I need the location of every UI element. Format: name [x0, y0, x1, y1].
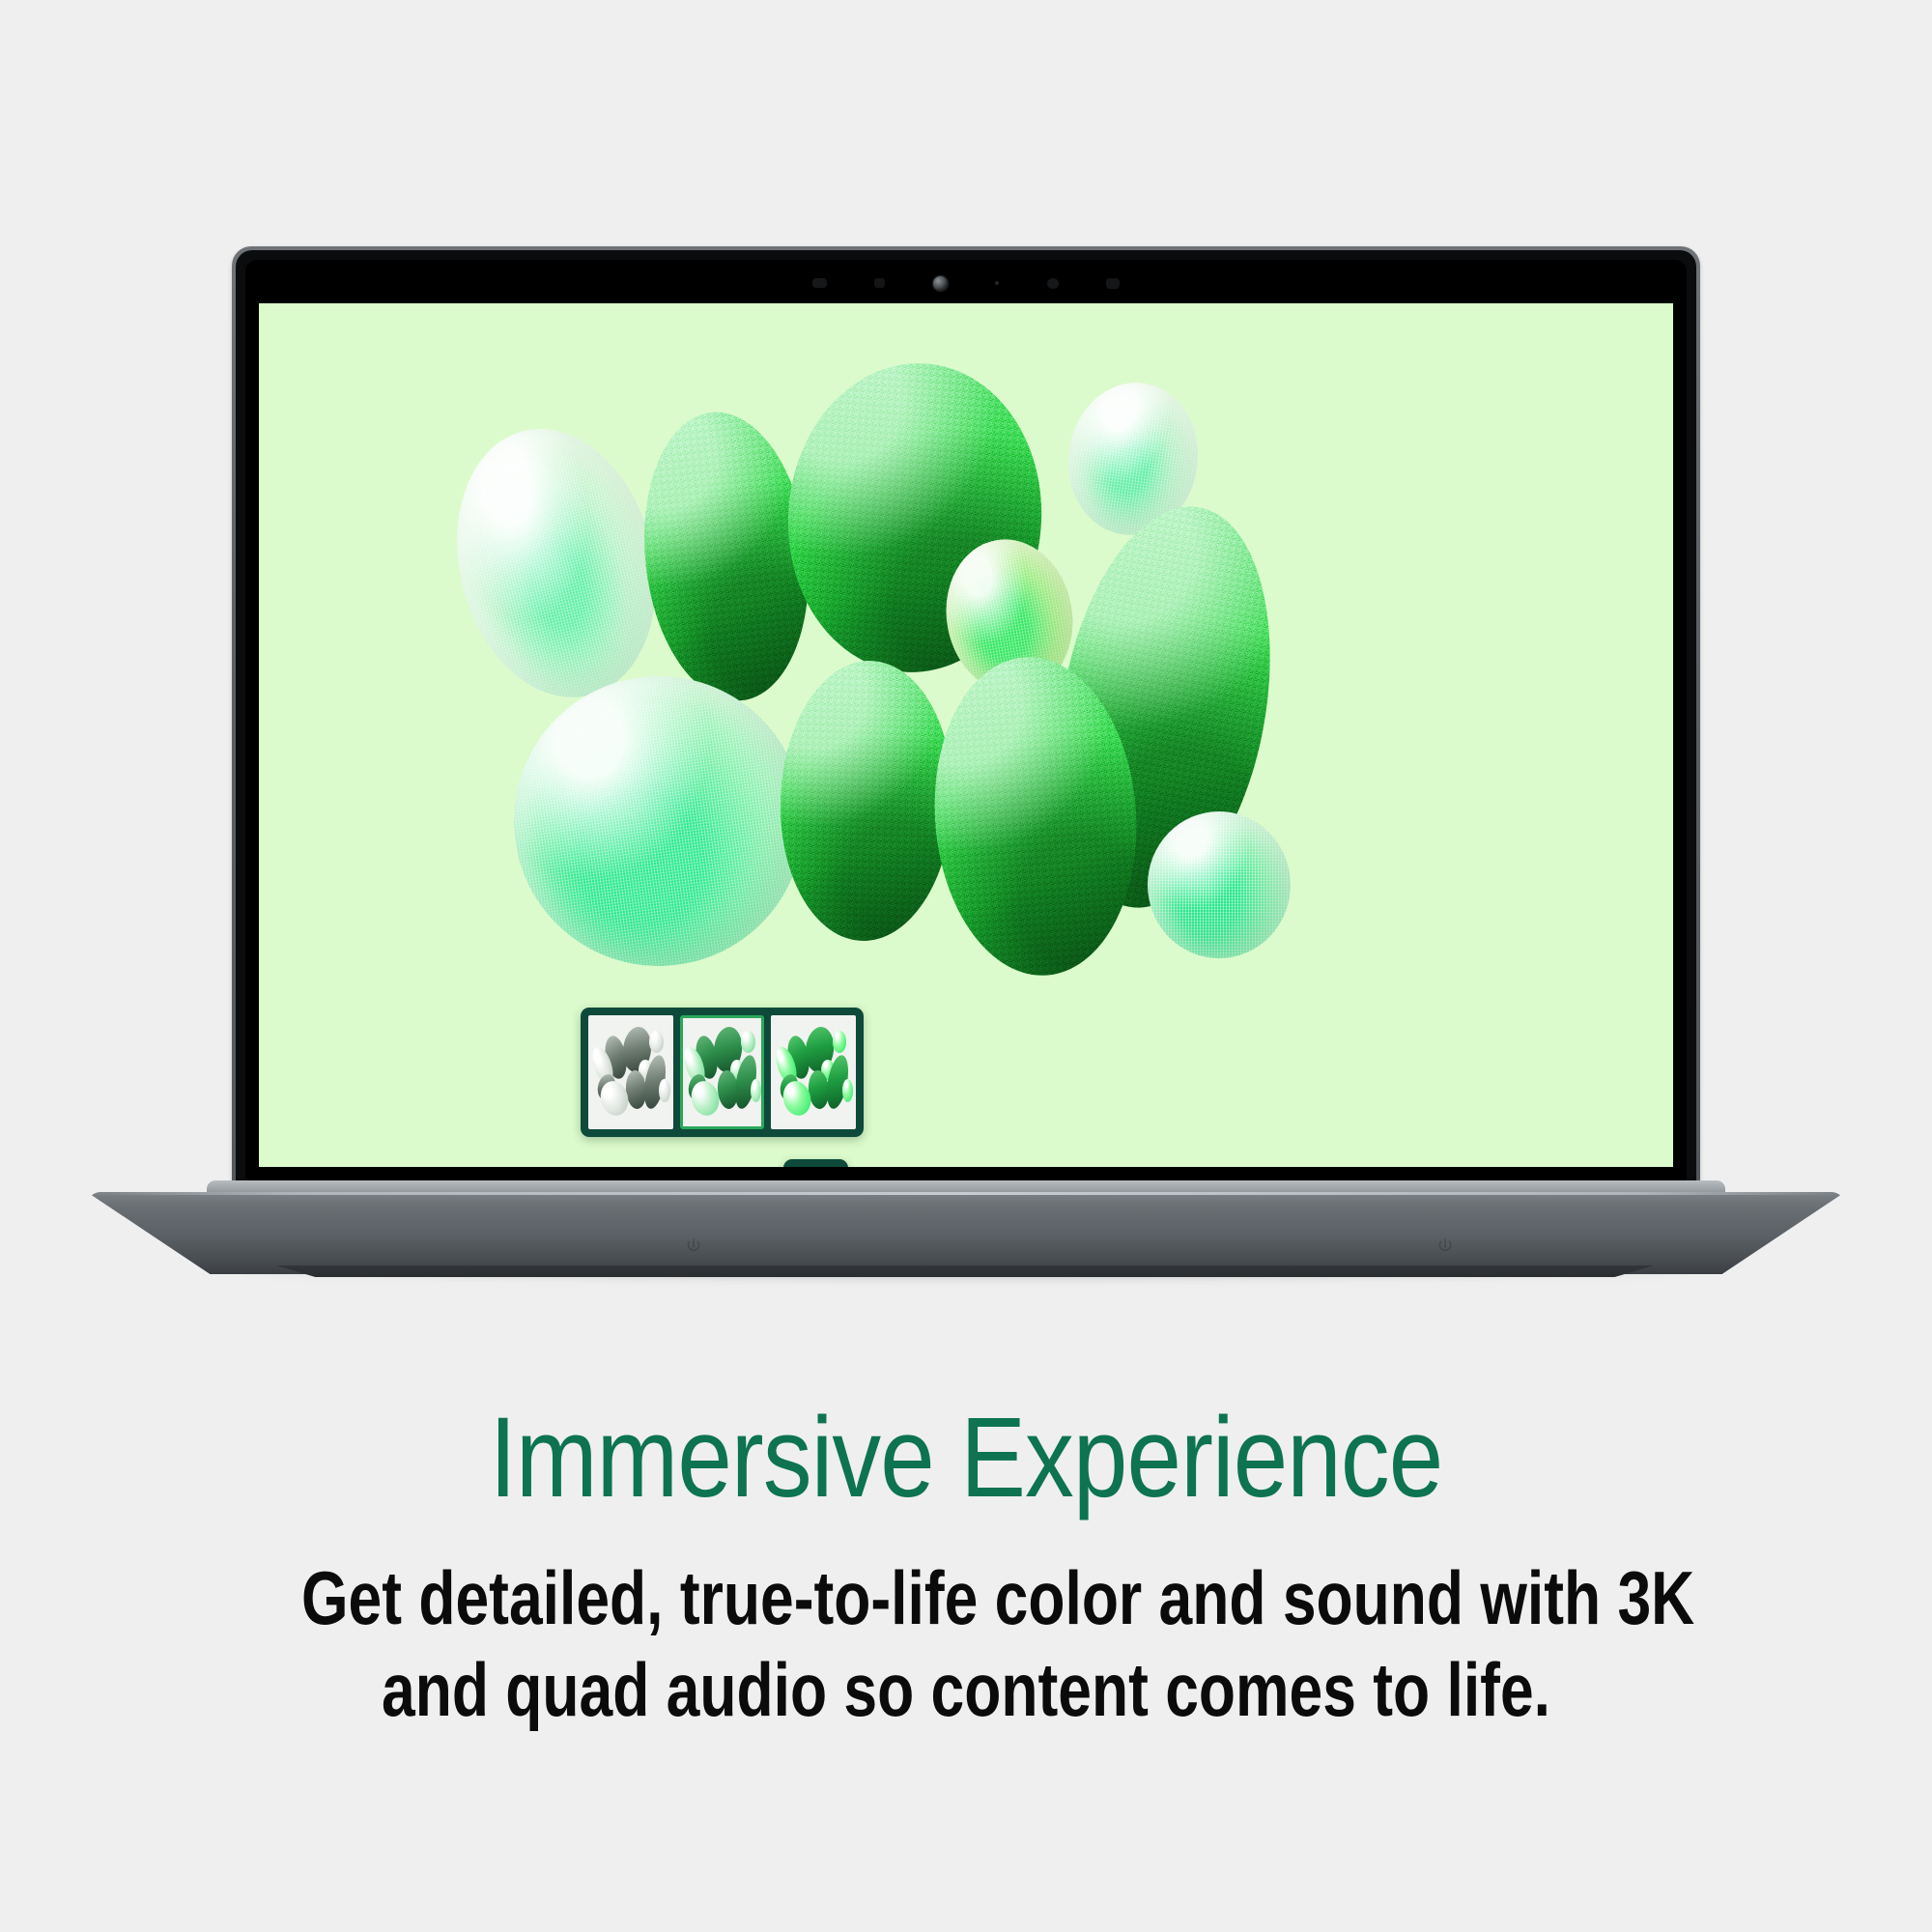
laptop-device [0, 0, 1932, 1285]
thumbnail-v2[interactable] [680, 1015, 765, 1129]
status-led-icon [995, 281, 999, 285]
thumbnail-strip[interactable] [581, 1008, 864, 1137]
ir-camera-icon [1106, 278, 1120, 289]
thumbnail-preview [591, 1018, 670, 1126]
base-front-edge [259, 1265, 1671, 1277]
thumbnail-blob [833, 1031, 847, 1052]
page-subcopy: Get detailed, true-to-life color and sou… [301, 1552, 1631, 1736]
vent-left-icon [686, 1236, 701, 1256]
thumbnail-preview [683, 1018, 762, 1126]
ir-emitter-icon [812, 278, 827, 288]
laptop-screen [259, 303, 1673, 1167]
page-title: Immersive Experience [135, 1399, 1797, 1518]
lid-inner-shell [236, 250, 1696, 1188]
thumbnail-blob [649, 1031, 664, 1052]
camera-array [807, 272, 1125, 294]
vent-right-icon [1437, 1236, 1453, 1256]
wallpaper-blob [1148, 811, 1291, 958]
proximity-sensor-icon [874, 278, 885, 288]
subcopy-line-1: Get detailed, true-to-life color and sou… [301, 1552, 1631, 1644]
thumbnail-blob [741, 1031, 755, 1052]
thumbnail-preview [774, 1018, 853, 1126]
webcam-lens-icon [933, 276, 948, 291]
laptop-base [0, 1180, 1932, 1287]
caption-block: Immersive Experience Get detailed, true-… [0, 1399, 1932, 1736]
laptop-lid [232, 246, 1700, 1188]
marketing-stage: Immersive Experience Get detailed, true-… [0, 0, 1932, 1932]
wallpaper-blob [776, 658, 957, 944]
subcopy-line-2: and quad audio so content comes to life. [301, 1644, 1631, 1736]
thumbnail-blob [842, 1079, 853, 1103]
thumbnail-v1[interactable] [588, 1015, 673, 1129]
display-bezel [245, 260, 1687, 1180]
base-body [87, 1192, 1845, 1274]
thumbnail-blob [659, 1079, 669, 1103]
thumbnail-v3[interactable] [771, 1015, 856, 1129]
ambient-light-sensor-icon [1047, 278, 1059, 289]
ai-regenerate-button[interactable] [783, 1159, 848, 1167]
wallpaper-blob [496, 658, 823, 985]
thumbnail-blob [751, 1079, 761, 1103]
